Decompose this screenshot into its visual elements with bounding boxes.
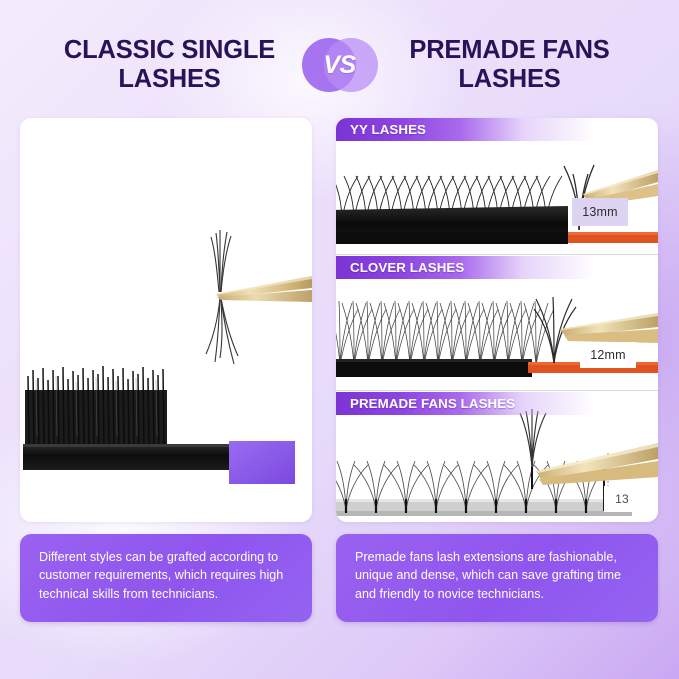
header-right-title: PREMADE FANS LASHES [384, 36, 636, 94]
premade-fans-label: PREMADE FANS LASHES [336, 396, 515, 411]
yy-lashes-label: YY LASHES [336, 122, 426, 137]
clover-lashes-label-band: CLOVER LASHES [336, 256, 596, 279]
vs-badge: VS [302, 35, 378, 95]
measurement-badge-yy: 13mm [572, 198, 628, 226]
purple-tab [229, 441, 295, 484]
header: CLASSIC SINGLE LASHES VS PREMADE FANS LA… [0, 22, 679, 108]
measurement-badge-clover: 12mm [580, 342, 636, 368]
classic-lashes-caption: Different styles can be grafted accordin… [20, 534, 312, 622]
measurement-badge-premade-fans: 13 [604, 486, 640, 512]
infographic-root: CLASSIC SINGLE LASHES VS PREMADE FANS LA… [0, 0, 679, 679]
premade-fans-lashes-card: YY LASHES [336, 118, 658, 522]
clover-lashes-label: CLOVER LASHES [336, 260, 464, 275]
yy-lashes-label-band: YY LASHES [336, 118, 596, 141]
premade-fans-caption: Premade fans lash extensions are fashion… [336, 534, 658, 622]
classic-lashes-illustration [20, 118, 312, 522]
premade-fans-label-band: PREMADE FANS LASHES [336, 392, 596, 415]
classic-single-lashes-card [20, 118, 312, 522]
vs-label: VS [323, 51, 355, 80]
subpanel-yy-lashes: YY LASHES [336, 118, 658, 254]
subpanel-clover-lashes: CLOVER LASHES [336, 254, 658, 390]
header-left-title: CLASSIC SINGLE LASHES [44, 36, 296, 94]
